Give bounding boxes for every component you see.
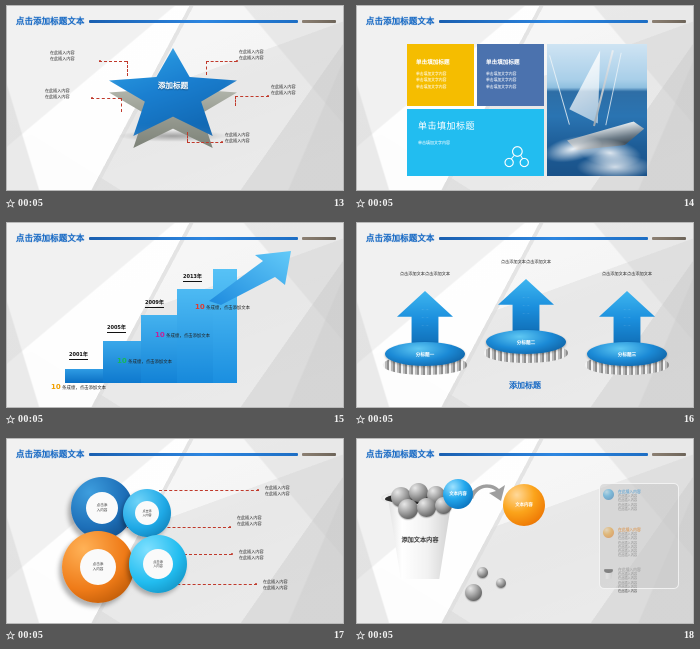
footer-timer-group: 00:05 xyxy=(6,414,43,425)
leader-line xyxy=(235,96,236,106)
step-note-number: 10 xyxy=(195,303,205,311)
title-rule-gray xyxy=(652,237,686,240)
bottom-title: 添加标题 xyxy=(357,380,693,391)
leader-line xyxy=(235,96,269,97)
slide-footer-14: 00:05 14 xyxy=(356,194,694,212)
orange-ball-label: 文本内容 xyxy=(515,502,533,508)
title-rule-blue xyxy=(89,453,298,456)
slide-15[interactable]: 点击添加标题文本 2001年 2005年 2009年 xyxy=(6,222,344,408)
year-label-3: 2009年 xyxy=(145,299,164,308)
pedestal-disc[interactable]: 分标题一 xyxy=(383,341,467,375)
leader-dot xyxy=(221,141,223,143)
arrow-label-2: 点击添加文本点击添加文本 xyxy=(484,259,568,265)
leader-line xyxy=(121,98,122,112)
blue-ball[interactable]: 文本内容 xyxy=(443,479,473,509)
grey-ball xyxy=(398,499,418,519)
ring-orange[interactable]: 点击添入内容 xyxy=(62,531,134,603)
step-note-3: 10 条成绩，点击添加文本 xyxy=(155,331,210,339)
slide-title: 点击添加标题文本 xyxy=(366,15,435,27)
step-note-number: 10 xyxy=(51,383,61,391)
slide-thumbnail-grid: 点击添加标题文本 添加标题 在此插入内容 在此插入内容 在此插入内容 在此插入内… xyxy=(0,0,700,649)
year-label-4: 2013年 xyxy=(183,273,202,282)
slide-footer-13: 00:05 13 xyxy=(6,194,344,212)
leader-dot xyxy=(257,489,259,491)
ring-label-2: 点击添入内容 xyxy=(135,501,159,525)
slide-title: 点击添加标题文本 xyxy=(366,448,435,460)
pedestal-disc[interactable]: 分标题三 xyxy=(585,341,669,375)
sea-background xyxy=(547,44,647,176)
arrow-group-1[interactable]: 点击添加文本点击添加文本 分标题一 xyxy=(383,271,467,375)
slide-17[interactable]: 点击添加标题文本 点击添入内容 点击添入内容 点击添入内容 点击添入内容 在此插… xyxy=(6,438,344,624)
leader-line xyxy=(99,61,127,62)
grey-ball xyxy=(465,584,482,601)
leader-line xyxy=(127,61,128,76)
step-note-1: 10 条成绩，点击添加文本 xyxy=(51,383,106,391)
orange-ball[interactable]: 文本内容 xyxy=(503,484,545,526)
step-note-2: 10 条成绩，点击添加文本 xyxy=(117,357,172,365)
slide-16[interactable]: 点击添加标题文本 点击添加文本点击添加文本 分标题一 点击添加文本 xyxy=(356,222,694,408)
pedestal-disc[interactable]: 分标题二 xyxy=(484,329,568,363)
title-rule-blue xyxy=(439,20,648,23)
star-icon xyxy=(356,631,365,640)
step-note-4: 10 条成绩，点击添加文本 xyxy=(195,303,250,311)
slide-footer-18: 00:05 18 xyxy=(356,626,694,644)
ring-cyan[interactable]: 点击添入内容 xyxy=(129,535,187,593)
slide-title: 点击添加标题文本 xyxy=(16,232,85,244)
chevrons xyxy=(405,303,445,337)
slide-number: 15 xyxy=(334,414,344,425)
star-icon xyxy=(6,199,15,208)
leader-dot xyxy=(229,526,231,528)
step-note-text: 条成绩，点击添加文本 xyxy=(128,360,172,365)
title-rule-blue xyxy=(89,20,298,23)
tile-yellow[interactable]: 单击填加标题 单击填加文字内容 单击填加文字内容 单击填加文字内容 xyxy=(407,44,474,106)
callout-3: 在此插入内容 在此插入内容 xyxy=(239,549,264,562)
timer-text: 00:05 xyxy=(18,414,43,425)
tile-body: 单击填加文字内容 单击填加文字内容 单击填加文字内容 xyxy=(486,71,535,90)
slide-cell-16[interactable]: 点击添加标题文本 点击添加文本点击添加文本 分标题一 点击添加文本 xyxy=(350,217,700,433)
footer-timer-group: 00:05 xyxy=(6,198,43,209)
tile-heading: 单击填加标题 xyxy=(416,58,465,66)
callout-1: 在此插入内容 在此插入内容 xyxy=(265,485,290,498)
star-center-label: 添加标题 xyxy=(103,80,243,91)
leader-line xyxy=(187,142,223,143)
rigging-rope xyxy=(549,55,570,124)
title-rule-gray xyxy=(652,453,686,456)
step-note-text: 条成绩，点击添加文本 xyxy=(62,386,106,391)
arrow-icon xyxy=(498,279,554,335)
callout-2: 在此插入内容 在此插入内容 xyxy=(237,515,262,528)
chevrons xyxy=(506,291,546,325)
tile-body: 单击填加文字内容 单击填加文字内容 单击填加文字内容 xyxy=(416,71,465,90)
slide-title: 点击添加标题文本 xyxy=(16,15,85,27)
timer-text: 00:05 xyxy=(368,198,393,209)
sea-foam xyxy=(575,154,647,176)
title-rule-blue xyxy=(439,453,648,456)
title-rule-blue xyxy=(89,237,298,240)
growth-arrow-icon xyxy=(205,249,297,305)
tile-heading: 单击填加标题 xyxy=(418,119,534,132)
arrow-label-3: 点击添加文本点击添加文本 xyxy=(585,271,669,277)
slide-number: 18 xyxy=(684,630,694,641)
leader-line xyxy=(206,61,237,62)
callout-top-right: 在此插入内容 在此插入内容 xyxy=(239,49,264,62)
slide-header: 点击添加标题文本 xyxy=(16,15,336,27)
ring-light-blue-top[interactable]: 点击添入内容 xyxy=(123,489,171,537)
leader-dot xyxy=(236,60,238,62)
leader-dot xyxy=(231,553,233,555)
tile-blue[interactable]: 单击填加标题 单击填加文字内容 单击填加文字内容 单击填加文字内容 xyxy=(477,44,544,106)
star-icon xyxy=(6,631,15,640)
blue-ball-label: 文本内容 xyxy=(449,491,467,497)
callout-bottom: 在此插入内容 在此插入内容 xyxy=(225,132,250,145)
slide-title: 点击添加标题文本 xyxy=(366,232,435,244)
slide-14[interactable]: 点击添加标题文本 单击填加标题 单击填加文字内容 单击填加文字内容 单击填加文字… xyxy=(356,5,694,191)
slide-cell-15[interactable]: 点击添加标题文本 2001年 2005年 2009年 xyxy=(0,217,350,433)
callout-mid-left: 在此插入内容 在此插入内容 xyxy=(45,88,70,101)
slide-footer-17: 00:05 17 xyxy=(6,626,344,644)
step-note-text: 条成绩，点击添加文本 xyxy=(166,334,210,339)
ring-label-3: 点击添入内容 xyxy=(80,549,116,585)
step-note-number: 10 xyxy=(117,357,127,365)
leader-line xyxy=(187,132,188,142)
star-icon xyxy=(356,199,365,208)
timer-text: 00:05 xyxy=(18,198,43,209)
slide-footer-15: 00:05 15 xyxy=(6,410,344,428)
title-rule-gray xyxy=(302,237,336,240)
grey-ball xyxy=(496,578,506,588)
leader-line xyxy=(159,490,259,491)
arrow-label-1: 点击添加文本点击添加文本 xyxy=(383,271,467,277)
grey-ball xyxy=(417,498,436,517)
ring-label-4: 点击添入内容 xyxy=(143,549,173,579)
timer-text: 00:05 xyxy=(368,630,393,641)
timer-text: 00:05 xyxy=(18,630,43,641)
star-shadow xyxy=(117,130,229,142)
leader-dot xyxy=(267,95,269,97)
slide-13[interactable]: 点击添加标题文本 添加标题 在此插入内容 在此插入内容 在此插入内容 在此插入内… xyxy=(6,5,344,191)
legend-panel xyxy=(599,483,679,589)
year-label-2: 2005年 xyxy=(107,324,126,333)
arrow-icon xyxy=(397,291,453,347)
slide-header: 点击添加标题文本 xyxy=(16,232,336,244)
slide-header: 点击添加标题文本 xyxy=(366,15,686,27)
tile-cyan[interactable]: 单击填加标题 单击填加文字内容 xyxy=(407,109,544,176)
leader-dot xyxy=(91,97,93,99)
slide-cell-14[interactable]: 点击添加标题文本 单击填加标题 单击填加文字内容 单击填加文字内容 单击填加文字… xyxy=(350,0,700,217)
footer-timer-group: 00:05 xyxy=(356,630,393,641)
slide-number: 13 xyxy=(334,198,344,209)
leader-dot xyxy=(99,60,101,62)
disc-label-1: 分标题一 xyxy=(383,352,467,358)
leader-dot xyxy=(255,583,257,585)
grey-ball xyxy=(477,567,488,578)
slide-cell-13[interactable]: 点击添加标题文本 添加标题 在此插入内容 在此插入内容 在此插入内容 在此插入内… xyxy=(0,0,350,217)
title-rule-gray xyxy=(302,453,336,456)
sailboat-photo xyxy=(547,44,647,176)
title-rule-gray xyxy=(302,20,336,23)
slide-header: 点击添加标题文本 xyxy=(366,232,686,244)
footer-timer-group: 00:05 xyxy=(6,630,43,641)
title-rule-gray xyxy=(652,20,686,23)
arrow-group-2[interactable]: 点击添加文本点击添加文本 分标题二 xyxy=(484,259,568,363)
disc-label-2: 分标题二 xyxy=(484,340,568,346)
slide-number: 17 xyxy=(334,630,344,641)
disc-label-3: 分标题三 xyxy=(585,352,669,358)
timer-text: 00:05 xyxy=(368,414,393,425)
slide-footer-16: 00:05 16 xyxy=(356,410,694,428)
arrow-group-3[interactable]: 点击添加文本点击添加文本 分标题三 xyxy=(585,271,669,375)
callout-mid-right: 在此插入内容 在此插入内容 xyxy=(271,84,296,97)
slide-number: 14 xyxy=(684,198,694,209)
leader-line xyxy=(91,98,121,99)
bucket-label: 添加文本内容 xyxy=(383,535,457,544)
year-label-1: 2001年 xyxy=(69,351,88,360)
callout-top-left: 在此插入内容 在此插入内容 xyxy=(50,50,75,63)
slide-cell-17[interactable]: 点击添加标题文本 点击添入内容 点击添入内容 点击添入内容 点击添入内容 在此插… xyxy=(0,433,350,649)
footer-timer-group: 00:05 xyxy=(356,198,393,209)
tile-heading: 单击填加标题 xyxy=(486,58,535,66)
ring-label-1: 点击添入内容 xyxy=(86,492,118,524)
chevrons xyxy=(607,303,647,337)
slide-header: 点击添加标题文本 xyxy=(366,448,686,460)
slide-header: 点击添加标题文本 xyxy=(16,448,336,460)
title-rule-blue xyxy=(439,237,648,240)
slide-title: 点击添加标题文本 xyxy=(16,448,85,460)
star-icon xyxy=(356,415,365,424)
three-circles-icon xyxy=(502,146,530,168)
leader-line xyxy=(167,584,257,585)
step-note-number: 10 xyxy=(155,331,165,339)
step-note-text: 条成绩，点击添加文本 xyxy=(206,306,250,311)
slide-cell-18[interactable]: 点击添加标题文本 添加文本内容 文本内容 文本内容 xyxy=(350,433,700,649)
slide-number: 16 xyxy=(684,414,694,425)
slide-18[interactable]: 点击添加标题文本 添加文本内容 文本内容 文本内容 xyxy=(356,438,694,624)
arrow-icon xyxy=(599,291,655,347)
star-icon xyxy=(6,415,15,424)
slide-background xyxy=(7,439,343,623)
footer-timer-group: 00:05 xyxy=(356,414,393,425)
leader-line xyxy=(206,61,207,75)
callout-4: 在此插入内容 在此插入内容 xyxy=(263,579,288,592)
curved-arrow-icon xyxy=(467,481,507,505)
